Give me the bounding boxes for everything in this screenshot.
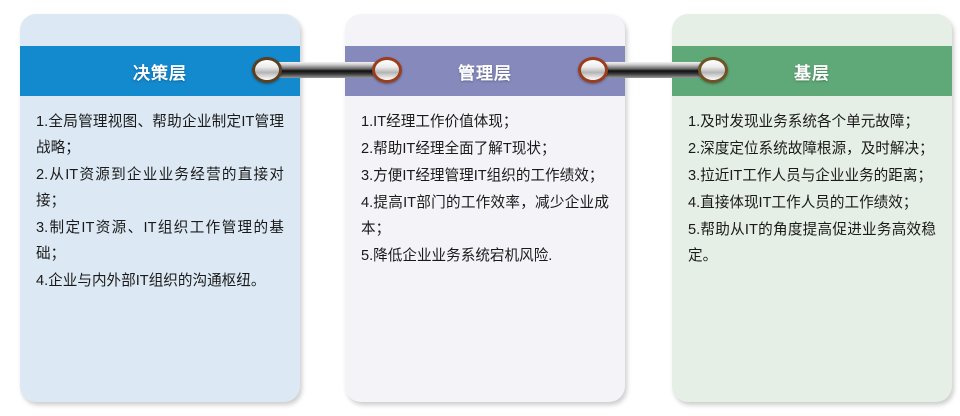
list-item: 5.降低企业业务系统宕机风险. <box>361 244 609 270</box>
list-item: 4.提高IT部门的工作效率，减少企业成本； <box>361 191 609 243</box>
connector-management-base-icon <box>578 57 728 83</box>
list-item: 1.全局管理视图、帮助企业制定IT管理战略； <box>36 110 284 162</box>
connector-decision-management-icon <box>252 57 402 83</box>
connector-rod <box>266 62 388 78</box>
panel-base-layer-title: 基层 <box>794 59 830 84</box>
list-item: 2.从IT资源到企业业务经营的直接对接； <box>36 163 284 215</box>
panel-decision-layer-body: 1.全局管理视图、帮助企业制定IT管理战略； 2.从IT资源到企业业务经营的直接… <box>20 96 300 402</box>
connector-knob-right-icon <box>698 57 728 83</box>
panel-decision-layer-title: 决策层 <box>133 59 187 84</box>
list-item: 2.帮助IT经理全面了解T现状； <box>361 137 609 163</box>
panel-base-layer-body: 1.及时发现业务系统各个单元故障； 2.深度定位系统故障根源，及时解决； 3.拉… <box>672 96 952 402</box>
management-layer-item-list: 1.IT经理工作价值体现； 2.帮助IT经理全面了解T现状； 3.方便IT经理管… <box>361 110 609 270</box>
connector-rod <box>592 62 714 78</box>
base-layer-item-list: 1.及时发现业务系统各个单元故障； 2.深度定位系统故障根源，及时解决； 3.拉… <box>688 110 936 270</box>
list-item: 4.企业与内外部IT组织的沟通枢纽。 <box>36 269 284 295</box>
list-item: 4.直接体现IT工作人员的工作绩效； <box>688 191 936 217</box>
connector-knob-right-icon <box>372 57 402 83</box>
panel-management-layer-title: 管理层 <box>458 59 512 84</box>
connector-knob-left-icon <box>578 57 608 83</box>
three-layer-diagram: 决策层 1.全局管理视图、帮助企业制定IT管理战略； 2.从IT资源到企业业务经… <box>0 0 960 416</box>
list-item: 3.方便IT经理管理IT组织的工作绩效； <box>361 164 609 190</box>
list-item: 5.帮助从IT的角度提高促进业务高效稳定。 <box>688 218 936 270</box>
list-item: 3.拉近IT工作人员与企业业务的距离； <box>688 164 936 190</box>
panel-management-layer-body: 1.IT经理工作价值体现； 2.帮助IT经理全面了解T现状； 3.方便IT经理管… <box>345 96 625 402</box>
decision-layer-item-list: 1.全局管理视图、帮助企业制定IT管理战略； 2.从IT资源到企业业务经营的直接… <box>36 110 284 295</box>
connector-knob-left-icon <box>252 57 282 83</box>
list-item: 1.及时发现业务系统各个单元故障； <box>688 110 936 136</box>
list-item: 2.深度定位系统故障根源，及时解决； <box>688 137 936 163</box>
list-item: 3.制定IT资源、IT组织工作管理的基础； <box>36 216 284 268</box>
list-item: 1.IT经理工作价值体现； <box>361 110 609 136</box>
